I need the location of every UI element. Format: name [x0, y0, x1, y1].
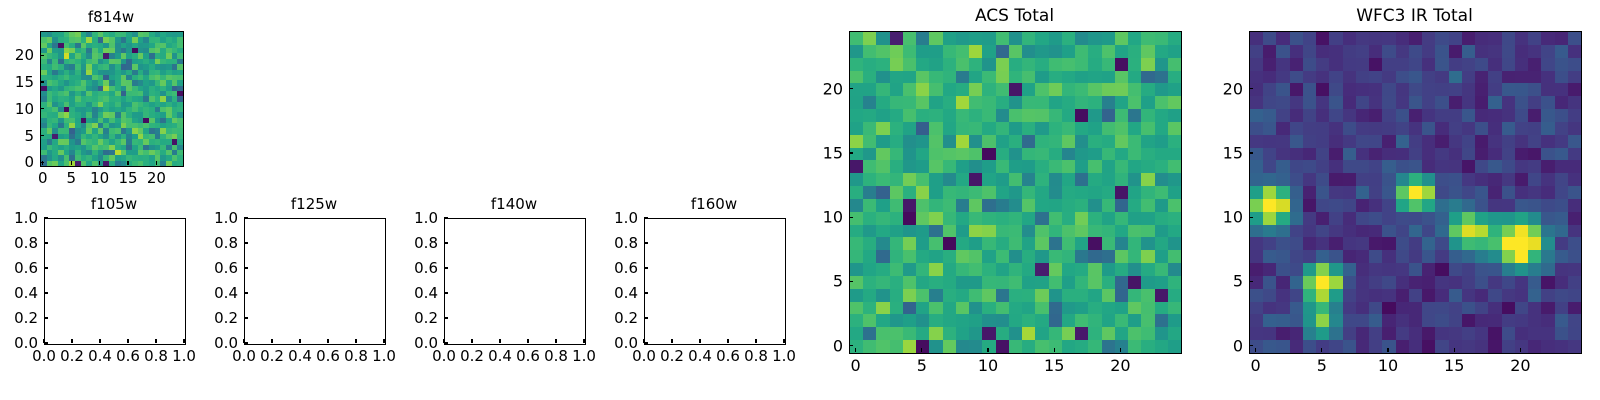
y-tick — [644, 217, 648, 218]
y-tick-label: 0.0 — [614, 334, 638, 352]
y-tick-label: 0.8 — [214, 234, 238, 252]
y-tick-label: 1.0 — [214, 209, 238, 227]
y-tick-label: 5 — [1233, 272, 1243, 291]
heatmap-image — [850, 32, 1181, 353]
x-tick — [1120, 348, 1121, 352]
plot-frame — [644, 218, 786, 345]
y-tick — [40, 81, 44, 82]
y-tick — [444, 342, 448, 343]
y-tick-label: 0.8 — [614, 234, 638, 252]
y-tick — [644, 242, 648, 243]
y-tick — [44, 342, 48, 343]
y-tick — [849, 281, 853, 282]
x-tick — [1054, 348, 1055, 352]
x-tick-label: 0.6 — [516, 347, 540, 365]
x-tick-label: 0.2 — [260, 347, 284, 365]
y-tick — [40, 108, 44, 109]
x-tick-label: 0 — [1251, 356, 1261, 375]
x-tick-label: 0.4 — [88, 347, 112, 365]
x-tick — [727, 339, 728, 343]
y-tick — [1249, 88, 1253, 89]
y-tick — [44, 267, 48, 268]
x-tick-label: 0.6 — [716, 347, 740, 365]
y-tick-label: 10 — [1223, 208, 1243, 227]
y-tick-label: 20 — [823, 79, 843, 98]
x-tick-label: 15 — [1044, 356, 1064, 375]
x-tick-label: 10 — [1378, 356, 1398, 375]
y-tick-label: 0.8 — [14, 234, 38, 252]
y-tick — [849, 217, 853, 218]
x-tick-label: 0.6 — [116, 347, 140, 365]
y-tick-label: 0.6 — [214, 259, 238, 277]
x-tick-label: 0 — [38, 169, 48, 187]
x-tick — [471, 339, 472, 343]
y-tick-label: 0.6 — [14, 259, 38, 277]
y-tick-label: 0.6 — [614, 259, 638, 277]
panel-acs-total: ACS Total0510152005101520 — [849, 31, 1180, 352]
x-tick-label: 0.4 — [688, 347, 712, 365]
panel-title: f105w — [44, 195, 184, 213]
x-tick-label: 20 — [1110, 356, 1130, 375]
x-tick-label: 1.0 — [572, 347, 596, 365]
x-tick-label: 1.0 — [372, 347, 396, 365]
x-tick-label: 0 — [851, 356, 861, 375]
y-tick-label: 0.0 — [14, 334, 38, 352]
x-tick — [99, 161, 100, 165]
x-tick — [755, 339, 756, 343]
y-tick — [444, 267, 448, 268]
x-tick-label: 10 — [978, 356, 998, 375]
x-tick — [583, 339, 584, 343]
x-tick-label: 15 — [1444, 356, 1464, 375]
y-tick-label: 1.0 — [414, 209, 438, 227]
y-tick — [44, 292, 48, 293]
y-tick — [644, 317, 648, 318]
x-tick — [987, 348, 988, 352]
y-tick — [40, 135, 44, 136]
x-tick — [555, 339, 556, 343]
y-tick — [244, 317, 248, 318]
heatmap-image — [1250, 32, 1581, 353]
y-tick — [244, 342, 248, 343]
plot-frame — [849, 31, 1182, 354]
x-tick-label: 0.4 — [488, 347, 512, 365]
x-tick-label: 0.2 — [660, 347, 684, 365]
x-tick-label: 20 — [1510, 356, 1530, 375]
panel-title: f140w — [444, 195, 584, 213]
x-tick-label: 10 — [90, 169, 109, 187]
y-tick — [244, 292, 248, 293]
x-tick — [783, 339, 784, 343]
y-tick-label: 1.0 — [14, 209, 38, 227]
x-tick — [499, 339, 500, 343]
x-tick-label: 20 — [147, 169, 166, 187]
x-tick-label: 1.0 — [172, 347, 196, 365]
x-tick — [671, 339, 672, 343]
x-tick-label: 1.0 — [772, 347, 796, 365]
x-tick — [527, 339, 528, 343]
y-tick — [444, 317, 448, 318]
plot-frame — [444, 218, 586, 345]
y-tick — [1249, 217, 1253, 218]
y-tick-label: 15 — [15, 73, 34, 91]
y-tick-label: 0.2 — [214, 309, 238, 327]
y-tick-label: 20 — [15, 46, 34, 64]
x-tick-label: 5 — [1317, 356, 1327, 375]
x-tick — [156, 161, 157, 165]
y-tick — [244, 242, 248, 243]
x-tick — [71, 339, 72, 343]
x-tick — [155, 339, 156, 343]
x-tick — [1520, 348, 1521, 352]
x-tick-label: 0.4 — [288, 347, 312, 365]
x-tick — [855, 348, 856, 352]
y-tick — [644, 267, 648, 268]
panel-f814w: f814w0510152005101520 — [40, 31, 182, 165]
y-tick-label: 0.6 — [414, 259, 438, 277]
x-tick-label: 5 — [917, 356, 927, 375]
y-tick-label: 10 — [15, 100, 34, 118]
y-tick-label: 10 — [823, 208, 843, 227]
panel-title: f814w — [40, 8, 182, 26]
x-tick — [921, 348, 922, 352]
x-tick — [299, 339, 300, 343]
y-tick — [44, 317, 48, 318]
y-tick-label: 0.4 — [414, 284, 438, 302]
y-tick-label: 5 — [833, 272, 843, 291]
y-tick — [1249, 345, 1253, 346]
x-tick — [1387, 348, 1388, 352]
x-tick — [327, 339, 328, 343]
plot-frame — [244, 218, 386, 345]
panel-title: f160w — [644, 195, 784, 213]
x-tick — [271, 339, 272, 343]
x-tick-label: 0.8 — [544, 347, 568, 365]
x-tick — [127, 339, 128, 343]
y-tick — [444, 242, 448, 243]
y-tick — [644, 342, 648, 343]
x-tick — [355, 339, 356, 343]
y-tick — [40, 162, 44, 163]
y-tick — [244, 217, 248, 218]
panel-title: WFC3 IR Total — [1249, 6, 1580, 26]
x-tick-label: 15 — [118, 169, 137, 187]
y-tick-label: 20 — [1223, 79, 1243, 98]
heatmap-image — [41, 32, 183, 166]
x-tick — [1255, 348, 1256, 352]
y-tick — [444, 292, 448, 293]
y-tick — [849, 88, 853, 89]
x-tick-label: 0.8 — [344, 347, 368, 365]
y-tick-label: 0 — [1233, 336, 1243, 355]
y-tick — [244, 267, 248, 268]
x-tick-label: 0.6 — [316, 347, 340, 365]
x-tick-label: 0.8 — [744, 347, 768, 365]
y-tick-label: 15 — [1223, 143, 1243, 162]
y-tick-label: 0.8 — [414, 234, 438, 252]
x-tick — [127, 161, 128, 165]
x-tick — [1321, 348, 1322, 352]
y-tick — [444, 217, 448, 218]
x-tick — [183, 339, 184, 343]
x-tick — [383, 339, 384, 343]
x-tick-label: 0.2 — [60, 347, 84, 365]
y-tick — [1249, 281, 1253, 282]
y-tick — [44, 242, 48, 243]
y-tick-label: 0.0 — [214, 334, 238, 352]
panel-f125w: f125w0.00.20.40.60.81.00.00.20.40.60.81.… — [244, 218, 384, 343]
x-tick-label: 5 — [66, 169, 76, 187]
x-tick — [99, 339, 100, 343]
plot-frame — [1249, 31, 1582, 354]
x-tick — [71, 161, 72, 165]
x-tick-label: 0.8 — [144, 347, 168, 365]
y-tick — [849, 152, 853, 153]
x-tick-label: 0.2 — [460, 347, 484, 365]
panel-f105w: f105w0.00.20.40.60.81.00.00.20.40.60.81.… — [44, 218, 184, 343]
y-tick-label: 0.4 — [214, 284, 238, 302]
y-tick-label: 5 — [24, 127, 34, 145]
panel-wfc3-ir-total: WFC3 IR Total0510152005101520 — [1249, 31, 1580, 352]
x-tick — [1454, 348, 1455, 352]
plot-frame — [44, 218, 186, 345]
y-tick — [40, 55, 44, 56]
y-tick-label: 0 — [24, 153, 34, 171]
y-tick — [849, 345, 853, 346]
y-tick — [644, 292, 648, 293]
y-tick-label: 0.2 — [414, 309, 438, 327]
panel-title: ACS Total — [849, 6, 1180, 26]
y-tick-label: 15 — [823, 143, 843, 162]
panel-f160w: f160w0.00.20.40.60.81.00.00.20.40.60.81.… — [644, 218, 784, 343]
y-tick-label: 1.0 — [614, 209, 638, 227]
y-tick-label: 0.2 — [614, 309, 638, 327]
y-tick-label: 0 — [833, 336, 843, 355]
y-tick-label: 0.4 — [14, 284, 38, 302]
y-tick-label: 0.4 — [614, 284, 638, 302]
panel-f140w: f140w0.00.20.40.60.81.00.00.20.40.60.81.… — [444, 218, 584, 343]
y-tick — [44, 217, 48, 218]
panel-title: f125w — [244, 195, 384, 213]
y-tick — [1249, 152, 1253, 153]
y-tick-label: 0.0 — [414, 334, 438, 352]
x-tick — [699, 339, 700, 343]
y-tick-label: 0.2 — [14, 309, 38, 327]
plot-frame — [40, 31, 184, 167]
